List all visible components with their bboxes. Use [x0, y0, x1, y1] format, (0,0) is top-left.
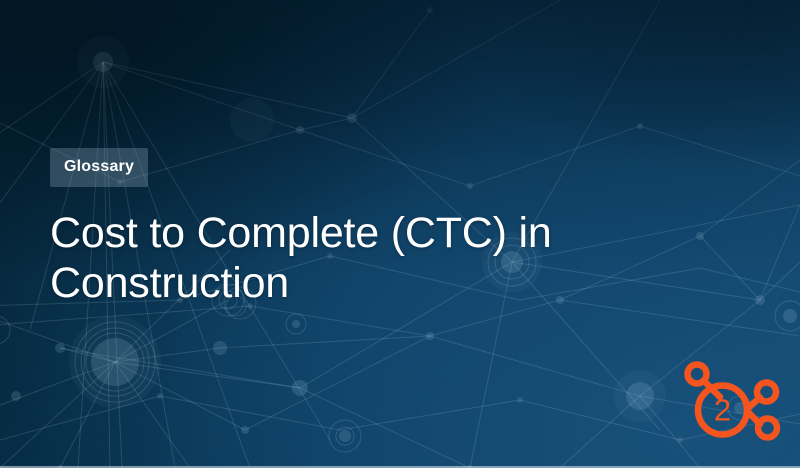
glossary-hero-banner: Glossary Cost to Complete (CTC) in Const… [0, 0, 800, 468]
page-title-line-1: Cost to Complete (CTC) in [50, 209, 552, 257]
category-badge: Glossary [50, 148, 148, 187]
logo-node-right-upper [757, 383, 776, 402]
logo-node-top-left [688, 365, 707, 384]
banner-content: Glossary Cost to Complete (CTC) in Const… [50, 148, 690, 309]
network-node-logo: 2 [678, 354, 788, 460]
page-title: Cost to Complete (CTC) in Construction [50, 208, 650, 309]
page-title-line-2: Construction [50, 259, 289, 307]
logo-node-right-lower [758, 419, 777, 438]
logo-digit: 2 [714, 393, 731, 428]
